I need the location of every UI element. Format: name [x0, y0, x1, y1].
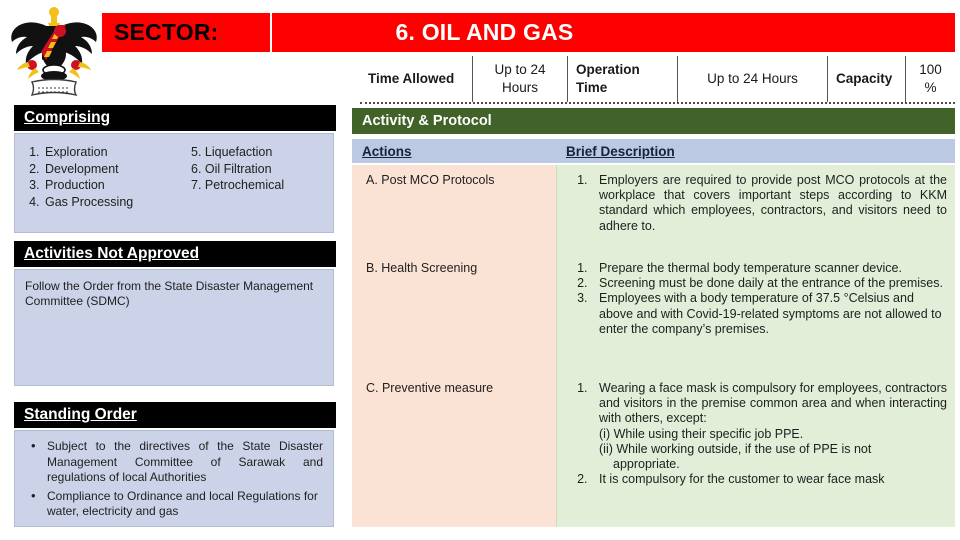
list-item: Subject to the directives of the State D…: [47, 439, 323, 486]
list-item: Prepare the thermal body temperature sca…: [591, 261, 947, 276]
list-item: Development: [43, 161, 191, 178]
standing-order-panel-body: Subject to the directives of the State D…: [14, 430, 334, 527]
list-item: Wearing a face mask is compulsory for em…: [591, 381, 947, 472]
capacity-label: Capacity: [827, 56, 905, 102]
table-row: A. Post MCO Protocols: [352, 173, 556, 261]
comprising-column-left: Exploration Development Production Gas P…: [23, 144, 191, 210]
list-item: Exploration: [43, 144, 191, 161]
list-item: 5. Liquefaction: [191, 144, 325, 161]
comprising-panel-title: Comprising: [14, 105, 336, 131]
protocol-table-body: A. Post MCO Protocols B. Health Screenin…: [352, 165, 955, 527]
list-item: Screening must be done daily at the entr…: [591, 276, 947, 291]
table-row: Wearing a face mask is compulsory for em…: [557, 381, 955, 487]
table-row: Employers are required to provide post M…: [557, 173, 955, 261]
column-header-actions: Actions: [352, 144, 556, 159]
activity-protocol-header: Activity & Protocol: [352, 108, 955, 134]
activities-not-approved-title-text: Activities Not Approved: [24, 245, 199, 263]
table-row: C. Preventive measure: [352, 381, 556, 396]
activities-not-approved-panel-title: Activities Not Approved: [14, 241, 336, 267]
table-row: Prepare the thermal body temperature sca…: [557, 261, 955, 381]
sector-name: 6. OIL AND GAS: [272, 19, 955, 46]
list-item: 7. Petrochemical: [191, 177, 325, 194]
column-header-brief-description: Brief Description: [556, 144, 955, 159]
info-table: Time Allowed Up to 24 Hours Operation Ti…: [360, 56, 955, 104]
operation-time-label: Operation Time: [567, 56, 677, 102]
capacity-value: 100 %: [905, 56, 955, 102]
comprising-column-right: 5. Liquefaction 6. Oil Filtration 7. Pet…: [191, 144, 325, 210]
list-item: 6. Oil Filtration: [191, 161, 325, 178]
standing-order-panel-title: Standing Order: [14, 402, 336, 428]
list-item: Gas Processing: [43, 194, 191, 211]
activity-protocol-title: Activity & Protocol: [362, 113, 492, 129]
time-allowed-label: Time Allowed: [360, 56, 472, 102]
comprising-panel-body: Exploration Development Production Gas P…: [14, 133, 334, 233]
activities-not-approved-panel-body: Follow the Order from the State Disaster…: [14, 269, 334, 386]
list-item-text: Wearing a face mask is compulsory for em…: [599, 381, 947, 425]
standing-order-title-text: Standing Order: [24, 406, 137, 424]
sector-header-bar: SECTOR: 6. OIL AND GAS: [102, 13, 955, 52]
list-item: Employers are required to provide post M…: [591, 173, 947, 234]
actions-column: A. Post MCO Protocols B. Health Screenin…: [352, 165, 556, 527]
time-allowed-value: Up to 24 Hours: [472, 56, 567, 102]
sector-label: SECTOR:: [102, 19, 270, 46]
table-row: B. Health Screening: [352, 261, 556, 381]
comprising-title-text: Comprising: [24, 109, 110, 127]
sarawak-coat-of-arms-emblem: [8, 2, 100, 98]
protocol-table-header-row: Actions Brief Description: [352, 139, 955, 163]
list-item: It is compulsory for the customer to wea…: [591, 472, 947, 487]
list-item: Production: [43, 177, 191, 194]
activities-not-approved-text: Follow the Order from the State Disaster…: [25, 279, 323, 309]
sub-point: (i) While using their specific job PPE.: [599, 427, 947, 442]
sub-point: appropriate.: [599, 457, 947, 472]
sub-point: (ii) While working outside, if the use o…: [599, 442, 947, 457]
description-column: Employers are required to provide post M…: [556, 165, 955, 527]
list-item: Compliance to Ordinance and local Regula…: [47, 489, 323, 520]
operation-time-value: Up to 24 Hours: [677, 56, 827, 102]
list-item: Employees with a body temperature of 37.…: [591, 291, 947, 337]
